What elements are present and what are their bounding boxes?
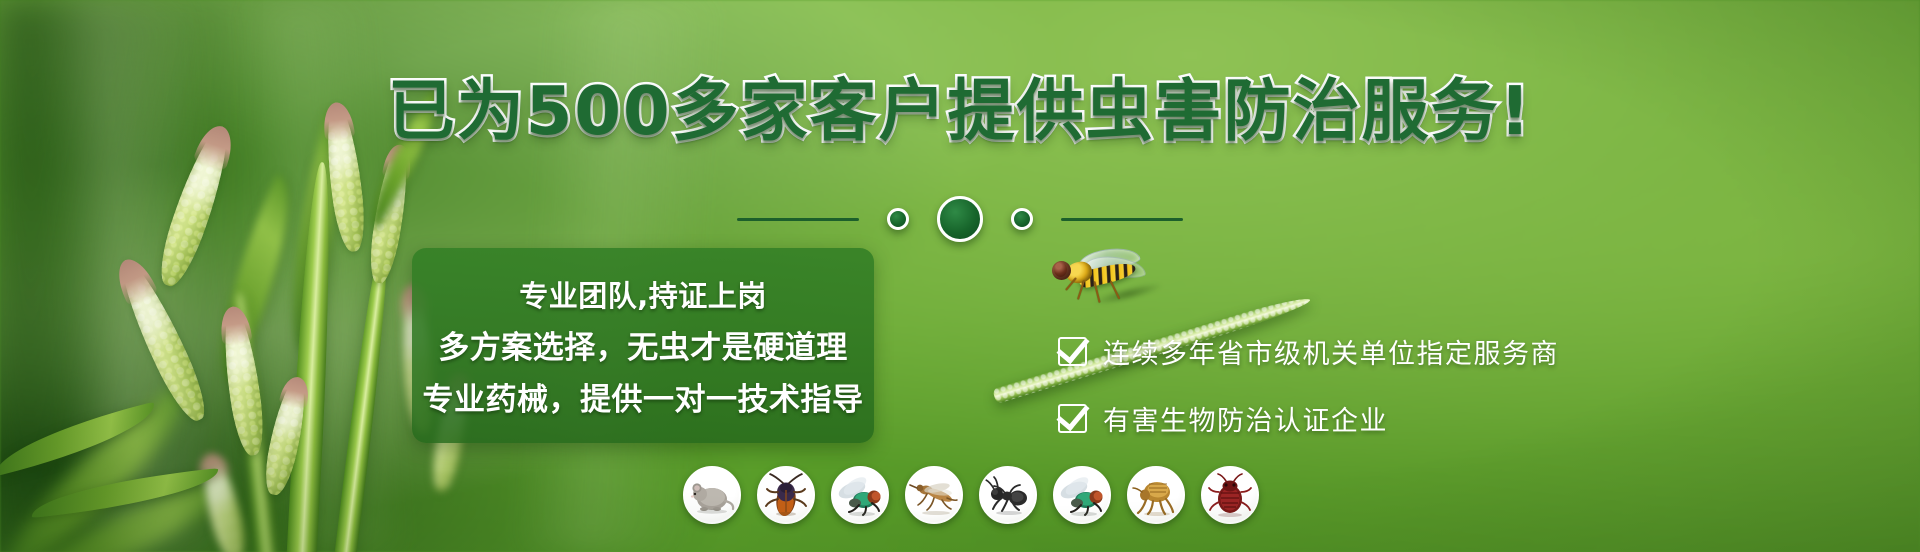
promo-banner: 已为500多家客户提供虫害防治服务! 专业团队,持证上岗 多方案选择，无虫才是硬… xyxy=(0,0,1920,552)
background-vignette xyxy=(0,0,1920,552)
